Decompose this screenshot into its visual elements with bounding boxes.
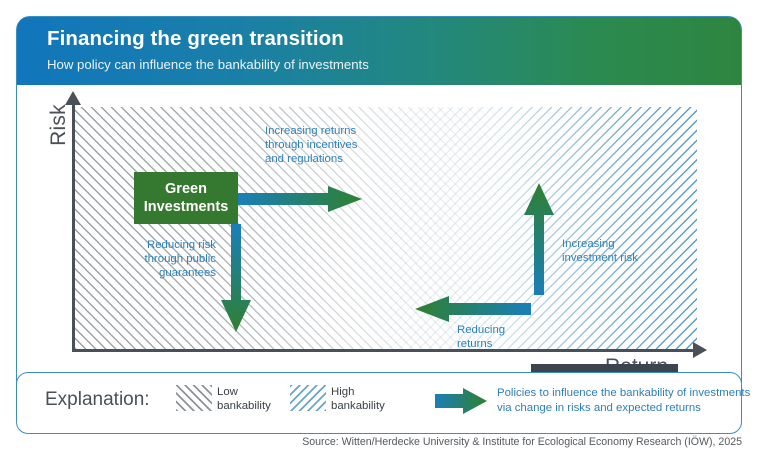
increasing-risk-arrow-icon [524, 183, 554, 300]
y-axis-label: Risk [47, 95, 71, 155]
risk-return-diagram: Risk Return Green Investments Increasing… [17, 85, 743, 377]
ann-line-1: Reducing [457, 323, 537, 337]
legend-policy-text: Policies to influence the bankability of… [497, 386, 750, 415]
legend-policy-arrow-icon [435, 388, 487, 419]
x-axis-arrowhead-icon [693, 342, 707, 358]
legend-line-2: bankability [217, 400, 271, 414]
x-axis [72, 349, 697, 352]
ann-line-1: Reducing risk [103, 238, 216, 252]
reducing-risk-arrow-icon [221, 224, 251, 337]
increasing-risk-annotation: Increasing investment risk [562, 237, 672, 265]
ann-line-2: investment risk [562, 251, 672, 265]
ann-line-2: through public [103, 252, 216, 266]
header-banner: Financing the green transition How polic… [17, 17, 741, 85]
increasing-returns-annotation: Increasing returns through incentives an… [265, 124, 385, 166]
ann-line-2: through incentives [265, 138, 385, 152]
low-bankability-swatch-icon [176, 385, 212, 411]
ann-line-1: Increasing returns [265, 124, 385, 138]
low-bankability-label: Low bankability [217, 386, 271, 413]
green-investments-box: Green Investments [134, 172, 238, 224]
page-title: Financing the green transition [47, 26, 741, 52]
ann-line-3: and regulations [265, 152, 385, 166]
green-investments-label-line2: Investments [144, 198, 229, 216]
legend-policy-line-1: Policies to influence the bankability of… [497, 386, 750, 401]
source-caption: Source: Witten/Herdecke University & Ins… [0, 436, 742, 448]
y-axis [72, 103, 75, 351]
reducing-returns-annotation: Reducing returns [457, 323, 537, 351]
legend-policy-line-2: via change in risks and expected returns [497, 401, 750, 416]
high-bankability-label: High bankability [331, 386, 385, 413]
explanation-title: Explanation: [45, 389, 150, 411]
ann-line-3: guarantees [103, 266, 216, 280]
legend-line-2: bankability [331, 400, 385, 414]
increasing-returns-arrow-icon [238, 186, 362, 217]
reducing-risk-annotation: Reducing risk through public guarantees [103, 238, 216, 280]
page-subtitle: How policy can influence the bankability… [47, 55, 741, 75]
infographic-frame: Financing the green transition How polic… [16, 16, 742, 424]
legend-line-1: High [331, 386, 385, 400]
green-investments-label-line1: Green [144, 180, 229, 198]
ann-line-2: returns [457, 337, 537, 351]
high-bankability-swatch-icon [290, 385, 326, 411]
ann-line-1: Increasing [562, 237, 672, 251]
legend-line-1: Low [217, 386, 271, 400]
